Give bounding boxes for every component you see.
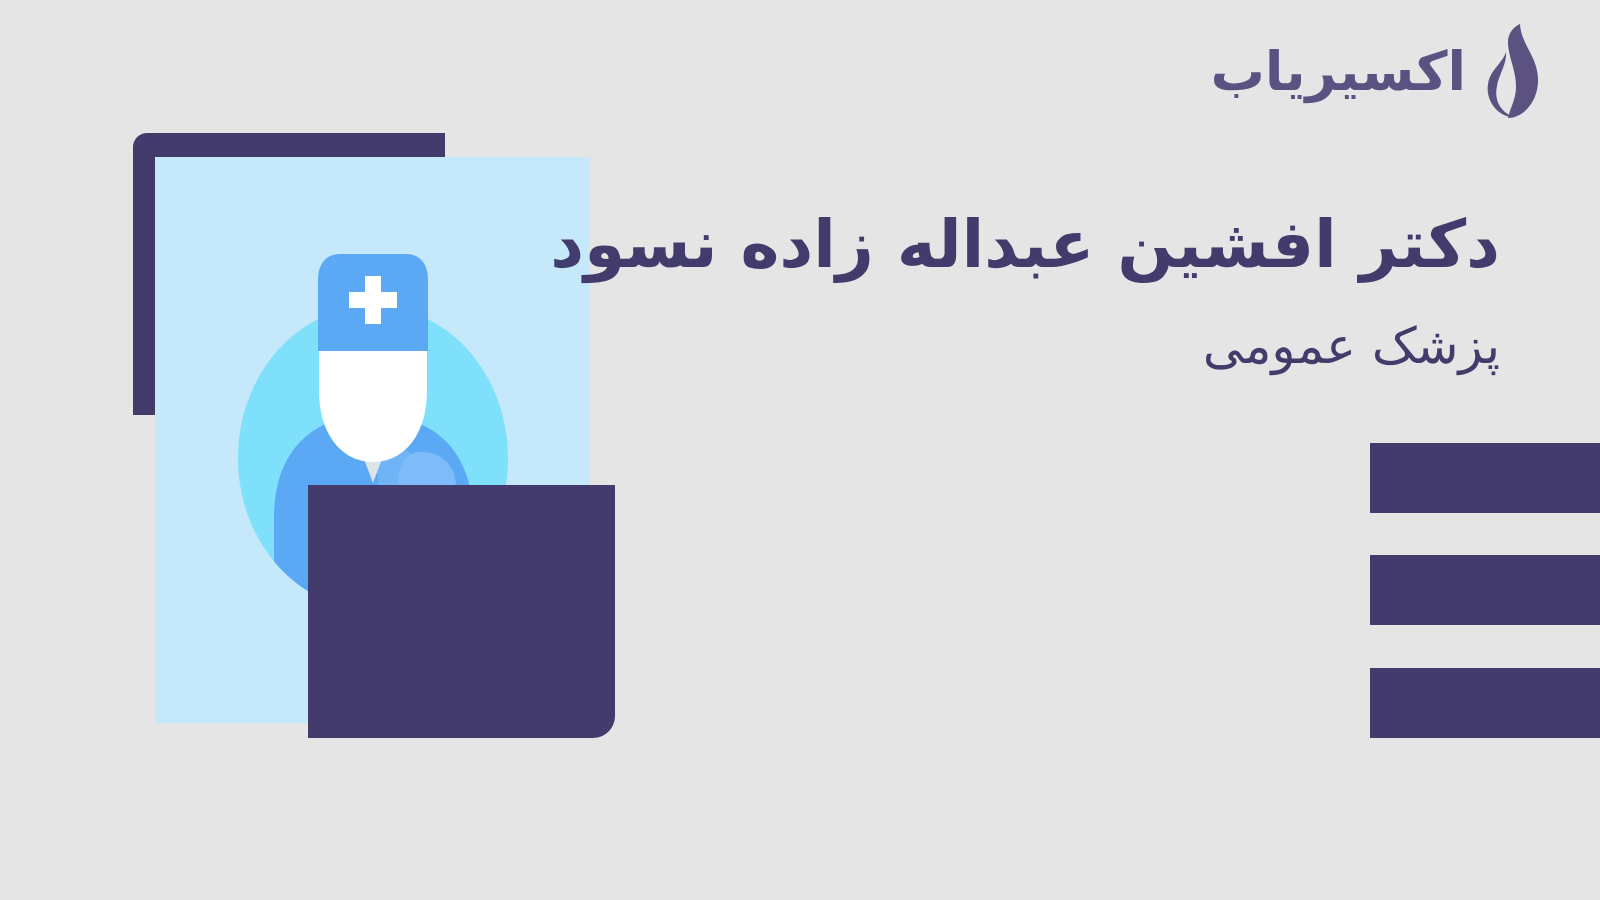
decorative-bar-1 (1370, 443, 1600, 513)
flame-droplet-icon (1480, 22, 1542, 122)
decorative-bars (1370, 443, 1600, 743)
doctor-identity: دکتر افشین عبداله زاده نسود پزشک عمومی (40, 206, 1500, 376)
page-title: دکتر افشین عبداله زاده نسود (40, 206, 1500, 284)
brand-logo[interactable]: اکسیریاب (1211, 22, 1542, 122)
decorative-bar-3 (1370, 668, 1600, 738)
doctor-specialty-label: پزشک عمومی (40, 316, 1500, 376)
profile-visual-stack (0, 0, 660, 900)
decorative-frame-front (308, 485, 615, 738)
decorative-bar-2 (1370, 555, 1600, 625)
doctor-profile-banner: اکسیریاب (0, 0, 1600, 900)
brand-wordmark: اکسیریاب (1211, 45, 1466, 99)
